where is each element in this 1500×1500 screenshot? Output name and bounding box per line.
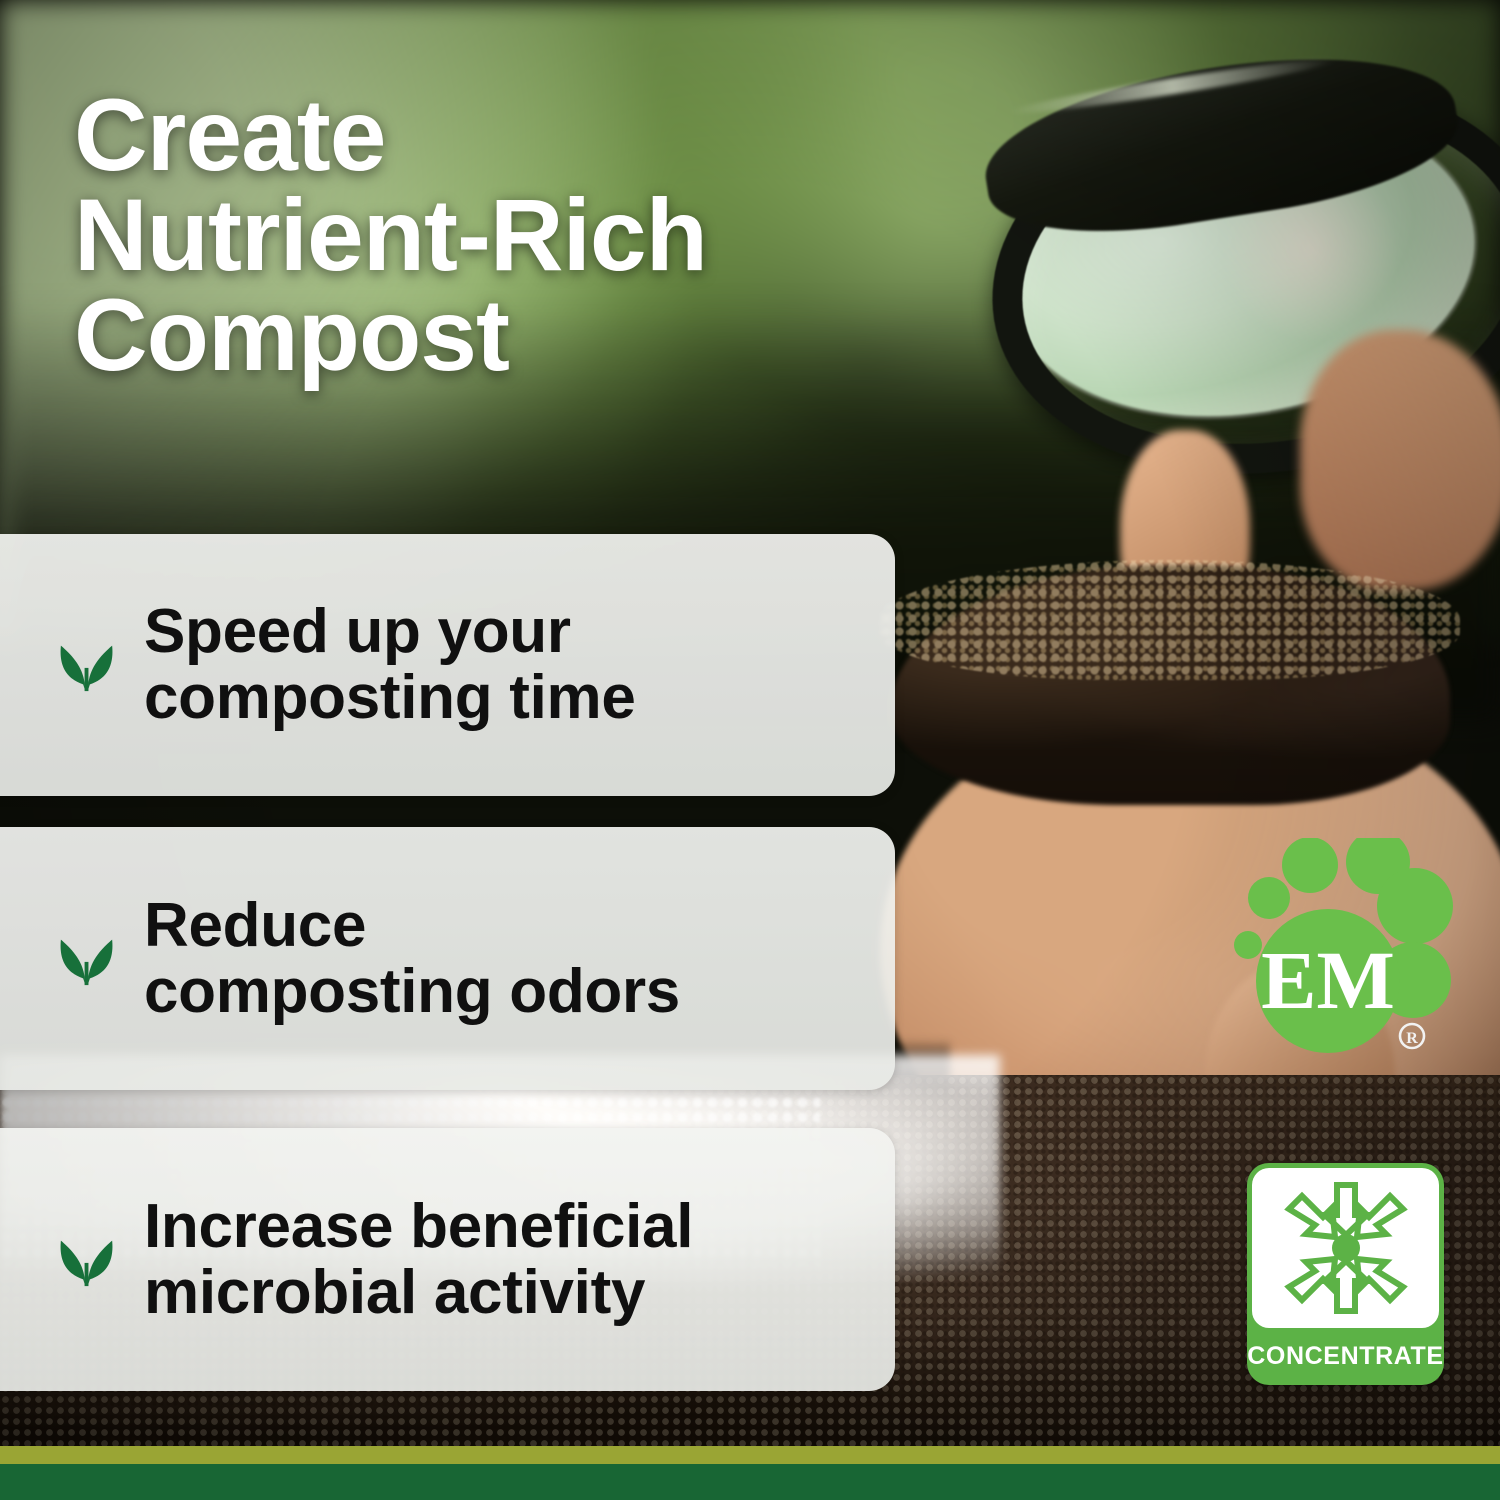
concentrate-badge: CONCENTRATE [1247,1163,1444,1385]
svg-text:R: R [1406,1030,1418,1047]
benefit-card-1: Speed up your composting time [0,534,895,796]
em-dots-logo: EM R [1215,838,1465,1088]
inward-arrows-icon [1271,1173,1421,1323]
leaf-icon-slot-2 [0,930,118,988]
benefit-card-3: Increase beneficial microbial activity [0,1128,895,1391]
em-logo: EM R [1215,838,1465,1088]
registered-trademark-icon: R [1400,1024,1424,1048]
concentrate-icon-panel [1252,1168,1439,1328]
leaf-icon-slot-3 [0,1231,118,1289]
footer-bar-olive [0,1446,1500,1464]
benefit-text-2: Reduce composting odors [144,893,680,1024]
leaf-icon-slot-1 [0,636,118,694]
page-title: Create Nutrient-Rich Compost [74,86,1004,386]
concentrate-center-dot [1332,1234,1360,1262]
footer-bar-green [0,1464,1500,1500]
leaf-icon [56,930,118,988]
concentrate-label: CONCENTRATE [1247,1328,1444,1385]
leaf-icon [56,1231,118,1289]
leaf-icon [56,636,118,694]
benefit-card-2: Reduce composting odors [0,827,895,1090]
benefit-text-3: Increase beneficial microbial activity [144,1194,693,1325]
benefit-text-1: Speed up your composting time [144,599,636,730]
promo-image: Create Nutrient-Rich Compost Speed up yo… [0,0,1500,1500]
em-wordmark: EM [1261,934,1395,1026]
